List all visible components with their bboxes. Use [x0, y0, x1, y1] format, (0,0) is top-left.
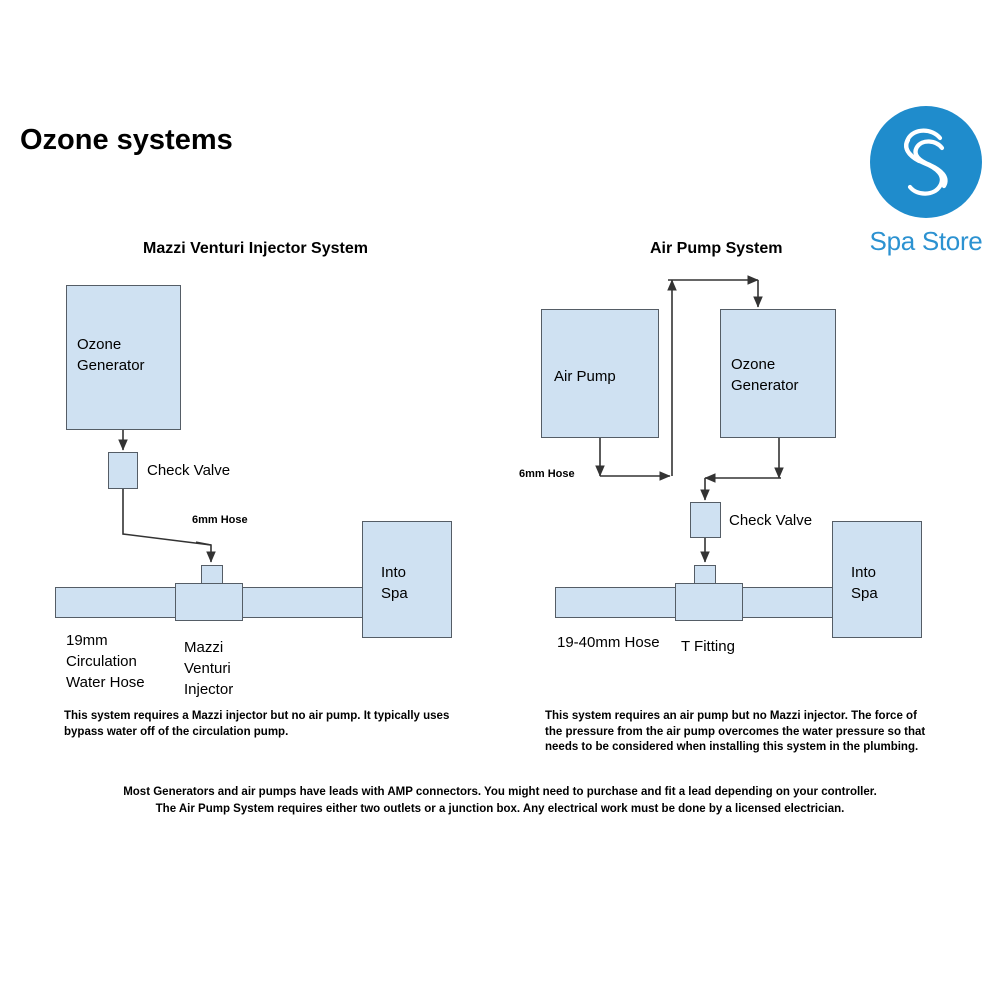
pipe-inlet-right	[555, 587, 677, 618]
hose-label-right: 6mm Hose	[519, 468, 575, 480]
box-label: Ozone Generator	[731, 354, 799, 396]
box-into-spa-right[interactable]: Into Spa	[832, 521, 922, 638]
box-into-spa-left[interactable]: Into Spa	[362, 521, 452, 638]
pipe-outlet-right	[741, 587, 836, 618]
box-t-fitting[interactable]	[675, 583, 743, 621]
pipe-inlet-left	[55, 587, 177, 618]
box-check-valve-right[interactable]	[690, 502, 721, 538]
diagram-canvas: Ozone systems Spa Store Mazzi Venturi In…	[0, 0, 1000, 1000]
check-valve-label-right: Check Valve	[729, 512, 812, 529]
pipe-outlet-left	[241, 587, 366, 618]
water-hose-label-left: 19mm Circulation Water Hose	[66, 630, 145, 693]
logo-text: Spa Store	[856, 226, 996, 257]
box-air-pump[interactable]: Air Pump	[541, 309, 659, 438]
note-airpump: This system requires an air pump but no …	[545, 709, 935, 756]
box-ozone-generator-left[interactable]: Ozone Generator	[66, 285, 181, 430]
box-mazzi-injector[interactable]	[175, 583, 243, 621]
page-title: Ozone systems	[20, 124, 233, 157]
box-label: Air Pump	[554, 366, 616, 387]
box-check-valve-left[interactable]	[108, 452, 138, 489]
logo-s-swirl-icon	[870, 106, 982, 218]
injector-label-left: Mazzi Venturi Injector	[184, 637, 233, 700]
note-mazzi: This system requires a Mazzi injector bu…	[64, 709, 484, 740]
box-ozone-generator-right[interactable]: Ozone Generator	[720, 309, 836, 438]
hose-label-left: 6mm Hose	[192, 514, 248, 526]
diagram-title-mazzi: Mazzi Venturi Injector System	[143, 240, 368, 258]
note-footer: Most Generators and air pumps have leads…	[50, 784, 950, 817]
spa-store-logo: Spa Store	[856, 106, 996, 266]
box-label: Into Spa	[851, 562, 878, 604]
box-label: Into Spa	[381, 562, 408, 604]
t-fitting-label: T Fitting	[681, 636, 735, 657]
water-hose-label-right: 19-40mm Hose	[557, 632, 660, 653]
box-label: Ozone Generator	[77, 334, 145, 376]
check-valve-label-left: Check Valve	[147, 462, 230, 479]
diagram-title-airpump: Air Pump System	[650, 240, 782, 258]
